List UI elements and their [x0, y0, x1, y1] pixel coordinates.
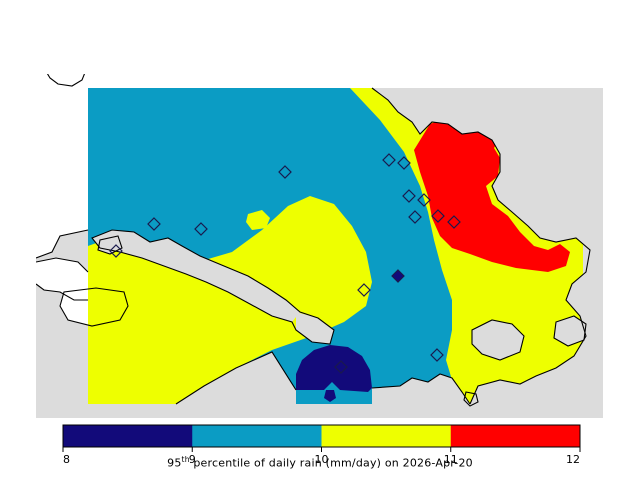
top-white-margin	[36, 74, 603, 88]
colorbar-bands[interactable]	[63, 425, 581, 447]
colorbar-band-11-12[interactable]	[451, 425, 581, 447]
colorbar-caption: 95th percentile of daily rain (mm/day) o…	[0, 455, 640, 470]
weather-map-figure: VictoriaWeather.ca -- Summer Total Daily…	[0, 0, 640, 480]
colorbar-band-8-9[interactable]	[63, 425, 193, 447]
colorbar-svg[interactable]: 89101112	[0, 418, 640, 480]
colorbar-band-10-11[interactable]	[322, 425, 452, 447]
caption-prefix: 95	[167, 457, 181, 470]
map-svg	[0, 0, 640, 420]
left-white-margin	[36, 74, 88, 258]
caption-superscript: th	[182, 455, 190, 464]
map-panel	[0, 0, 640, 420]
colorbar-panel: 89101112	[0, 418, 640, 480]
colorbar-band-9-10[interactable]	[192, 425, 322, 447]
caption-rest: percentile of daily rain (mm/day) on 202…	[190, 457, 473, 470]
